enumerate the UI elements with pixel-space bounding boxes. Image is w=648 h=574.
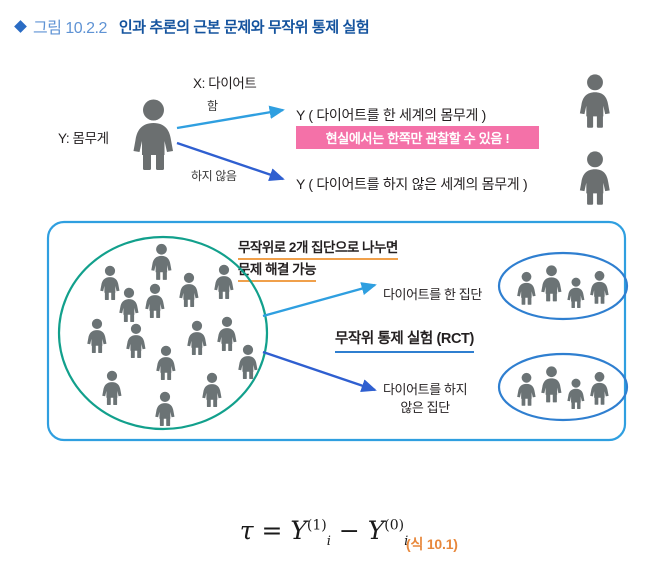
person-icon-subject <box>131 98 176 170</box>
rct-note-line1: 무작위로 2개 집단으로 나누면 <box>238 236 398 260</box>
group-treated-label: 다이어트를 한 집단 <box>383 284 482 303</box>
person-icon-group-treated <box>566 277 586 308</box>
equation-term2-sup: (0) <box>384 518 404 534</box>
person-icon-group-control <box>516 372 537 406</box>
person-icon-population <box>86 318 108 353</box>
person-icon-population <box>155 345 177 380</box>
person-icon-population <box>237 344 259 379</box>
person-icon-outcome-treated <box>578 73 612 128</box>
equation-minus: − <box>339 516 360 545</box>
fundamental-problem-banner: 현실에서는 한쪽만 관찰할 수 있음 ! <box>296 126 539 149</box>
person-icon-population <box>144 283 166 318</box>
person-icon-group-treated <box>540 264 563 302</box>
person-icon-group-treated <box>516 271 537 305</box>
person-icon-group-control <box>540 365 563 403</box>
equation-term2-base: Y <box>368 516 385 545</box>
outcome-treated-text: Y ( 다이어트를 한 세계의 몸무게 ) <box>296 105 486 125</box>
fundamental-problem-banner-text: 현실에서는 한쪽만 관찰할 수 있음 ! <box>326 128 510 147</box>
equation-tau: τ <box>240 516 254 545</box>
arrow-to-treated-group <box>263 285 375 316</box>
branch-treated-label: 함 <box>207 97 218 114</box>
person-icon-group-control <box>589 371 610 405</box>
person-icon-population <box>118 287 140 322</box>
equation-expression: τ = Y(1)i − Y(0)i <box>0 516 648 549</box>
figure-page: 그림 10.2.2 인과 추론의 근본 문제와 무작위 통제 실험 X: 다이어… <box>0 0 648 574</box>
person-icon-population <box>150 243 173 280</box>
arrow-to-control-group <box>263 352 375 390</box>
treatment-variable-label: X: 다이어트 <box>193 72 256 92</box>
equation-term1-sub: i <box>327 534 331 549</box>
person-icon-population <box>216 316 238 351</box>
person-icon-population <box>186 320 208 355</box>
person-icon-outcome-control <box>578 150 612 205</box>
person-icon-population <box>101 370 123 405</box>
person-icon-group-treated <box>589 270 610 304</box>
equation-term1-base: Y <box>290 516 307 545</box>
outcome-variable-label: Y: 몸무게 <box>58 127 109 147</box>
group-control-label: 다이어트를 하지 않은 집단 <box>383 381 467 416</box>
figure-number: 그림 10.2.2 <box>33 14 107 38</box>
person-icon-group-control <box>566 378 586 409</box>
arrow-treated-top <box>177 110 283 128</box>
equation-equals: = <box>261 516 282 545</box>
outcome-control-text: Y ( 다이어트를 하지 않은 세계의 몸무게 ) <box>296 174 527 194</box>
rct-note-line2: 문제 해결 가능 <box>238 258 316 282</box>
equation-number: (식 10.1) <box>406 534 458 554</box>
figure-caption-header: 그림 10.2.2 인과 추론의 근본 문제와 무작위 통제 실험 <box>16 14 369 38</box>
branch-control-label: 하지 않음 <box>191 167 237 184</box>
page-title: 인과 추론의 근본 문제와 무작위 통제 실험 <box>119 16 369 37</box>
person-icon-population <box>125 323 147 358</box>
person-icon-population <box>154 391 176 426</box>
person-icon-population <box>178 272 200 307</box>
rct-title: 무작위 통제 실험 (RCT) <box>335 327 474 353</box>
person-icon-population <box>201 372 223 407</box>
person-icon-population <box>213 264 235 299</box>
group-control-label-line2: 않은 집단 <box>383 399 467 417</box>
diamond-bullet-icon <box>14 20 27 33</box>
group-control-label-line1: 다이어트를 하지 <box>383 381 467 399</box>
equation-term1-sup: (1) <box>307 518 327 534</box>
